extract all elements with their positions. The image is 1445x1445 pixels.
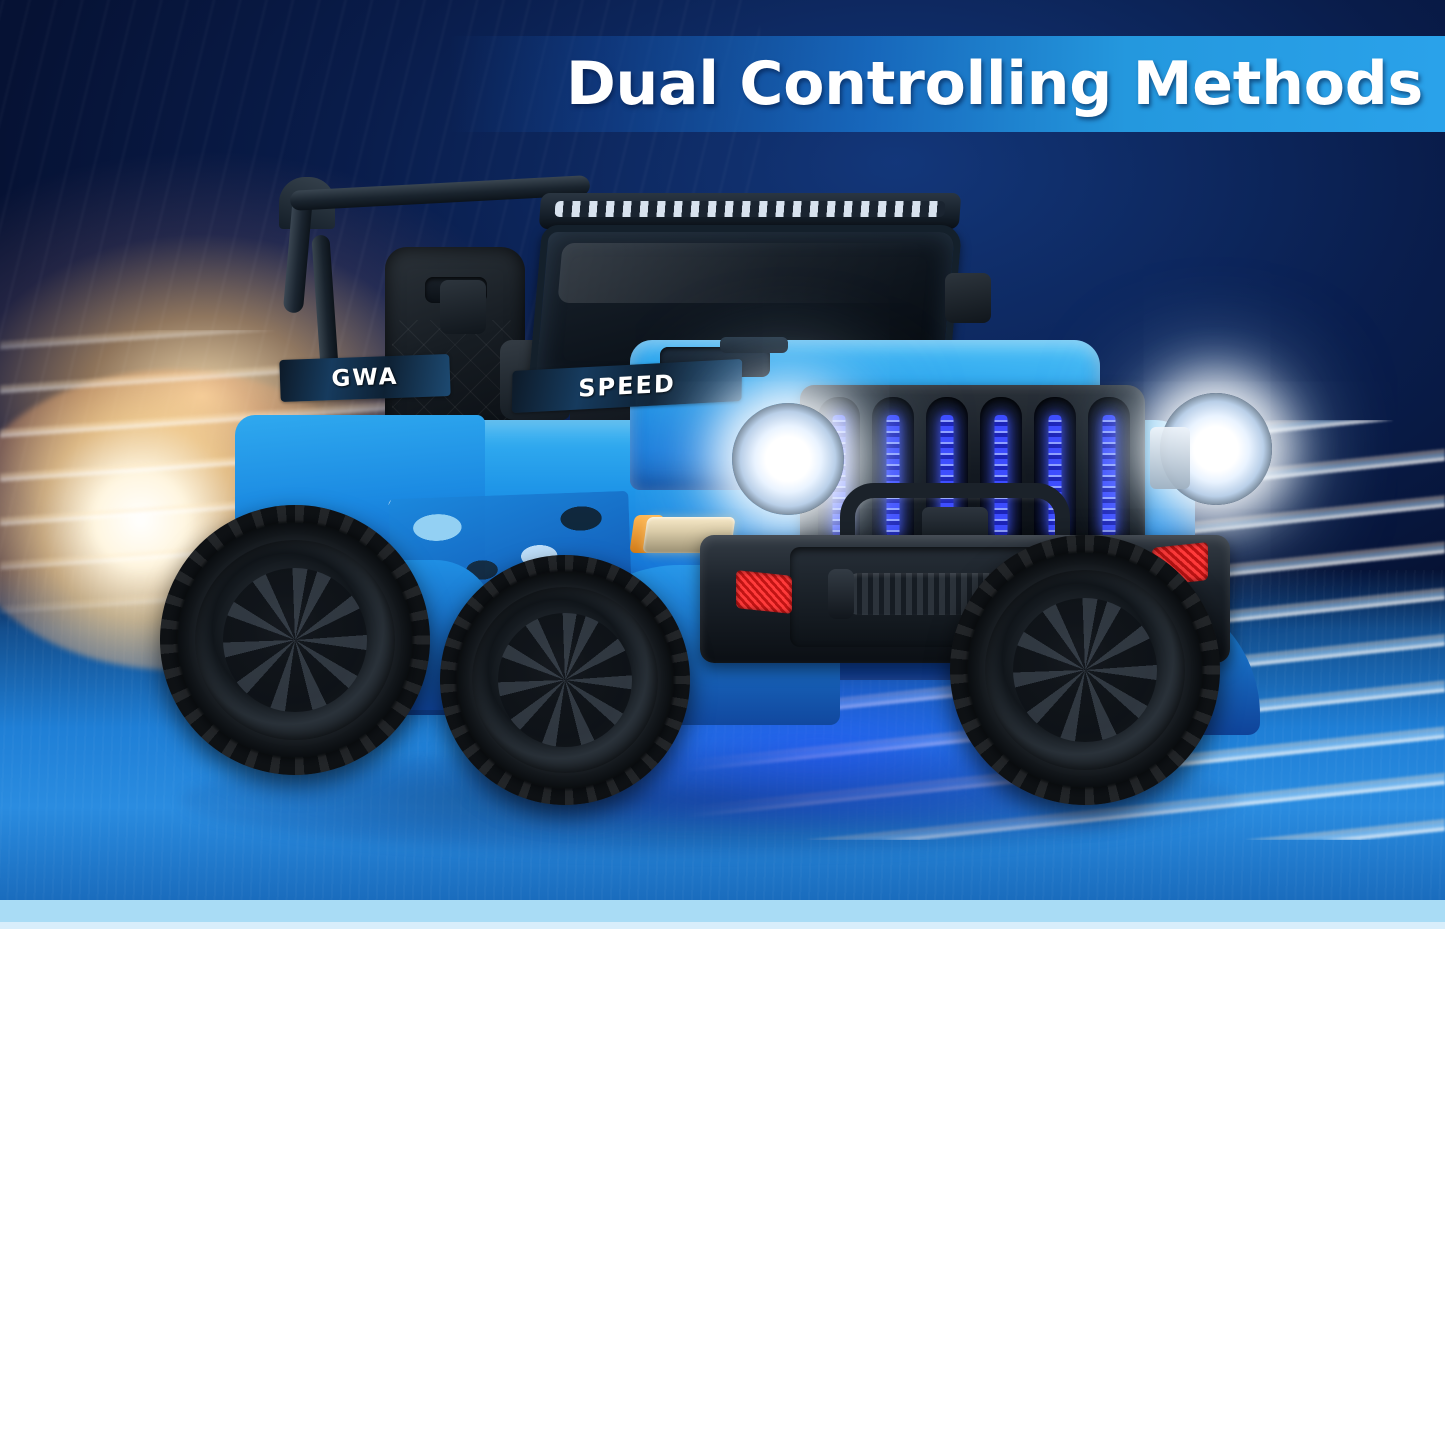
windshield-reflection: [557, 243, 922, 303]
reflector-left: [736, 570, 792, 614]
product-feature-image: GWA SPEED: [0, 0, 1445, 1445]
roll-bar-post-2: [311, 235, 338, 371]
rim-rear: [195, 540, 395, 740]
rim-mid: [472, 587, 658, 773]
roof-led-strip: [554, 201, 945, 217]
section-divider: [0, 900, 1445, 922]
page-title: Dual Controlling Methods: [450, 36, 1445, 132]
methods-panel: Kids Manual Drive Parental Remote Contro…: [0, 929, 1445, 1445]
hero-photo: GWA SPEED: [0, 0, 1445, 900]
winch-cap-left: [828, 569, 854, 619]
side-mirror-left: [440, 280, 486, 334]
ride-on-truck: GWA SPEED: [140, 165, 1270, 865]
rim-front: [985, 570, 1185, 770]
grille-slot: [1088, 397, 1130, 555]
side-mirror-right: [945, 273, 991, 323]
headlight-left: [732, 403, 844, 515]
section-divider-soft: [0, 922, 1445, 929]
decal-gwa: GWA: [279, 354, 450, 402]
hood-grip: [720, 337, 788, 353]
side-marker-light: [1150, 427, 1190, 489]
title-banner: Dual Controlling Methods: [450, 36, 1445, 132]
